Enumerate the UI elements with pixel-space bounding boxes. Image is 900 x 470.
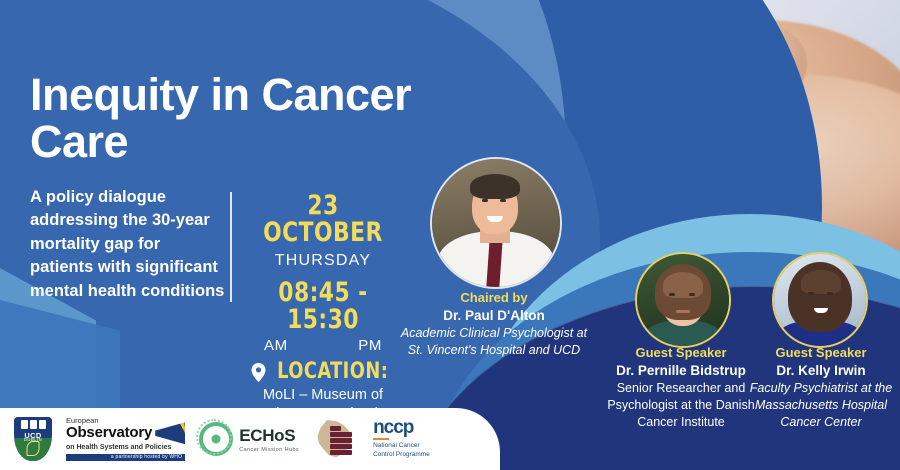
avatar-guest-one <box>635 252 731 348</box>
speaker-caption-guest-one: Guest Speaker Dr. Pernille Bidstrup Seni… <box>600 344 762 431</box>
speaker-description: Faculty Psychiatrist at the Massachusett… <box>740 380 900 431</box>
event-day-of-week: THURSDAY <box>248 252 398 270</box>
event-end-meridiem: PM <box>358 337 382 354</box>
speaker-name: Dr. Paul D'Alton <box>398 307 590 326</box>
echos-mark-icon <box>199 422 233 456</box>
ireland-map-icon <box>313 418 359 460</box>
avatar-chair <box>430 157 562 289</box>
speaker-caption-guest-two: Guest Speaker Dr. Kelly Irwin Faculty Ps… <box>740 344 900 431</box>
observatory-line3: on Health Systems and Policies <box>66 444 185 451</box>
observatory-line4: a partnership hosted by WHO <box>66 454 185 461</box>
event-details: 23 OCTOBER THURSDAY 08:45 - 15:30 AM PM … <box>248 192 398 424</box>
observatory-line2: Observatory <box>66 425 152 441</box>
speaker-role: Chaired by <box>398 289 590 307</box>
speaker-description: Academic Clinical Psychologist at St. Vi… <box>398 325 590 359</box>
speaker-caption-chair: Chaired by Dr. Paul D'Alton Academic Cli… <box>398 289 590 359</box>
vertical-divider <box>230 192 232 302</box>
speaker-name: Dr. Pernille Bidstrup <box>600 362 762 381</box>
speaker-role: Guest Speaker <box>600 344 762 362</box>
logo-european-observatory: European Observatory on Health Systems a… <box>66 417 185 461</box>
event-poster: Inequity in Cancer Care A policy dialogu… <box>0 0 900 470</box>
echos-name: ECHoS <box>239 426 299 446</box>
event-date: 23 OCTOBER <box>256 192 391 246</box>
logo-aicri <box>313 418 359 460</box>
location-label: LOCATION: <box>277 361 388 383</box>
event-time: 08:45 - 15:30 <box>256 279 391 333</box>
poster-subtitle: A policy dialogue addressing the 30-year… <box>30 186 225 303</box>
logo-nccp: nccp National Cancer Control Programme <box>373 418 430 460</box>
speaker-name: Dr. Kelly Irwin <box>740 362 900 381</box>
logo-echos: ECHoS Cancer Mission Hubs <box>199 422 299 456</box>
speaker-description: Senior Researcher and Psychologist at th… <box>600 380 762 431</box>
nccp-name: nccp <box>373 418 430 437</box>
nccp-line2: Control Programme <box>373 451 430 460</box>
location-pin-icon <box>251 363 266 382</box>
echos-tagline: Cancer Mission Hubs <box>239 447 299 453</box>
page-title: Inequity in Cancer Care <box>30 72 460 166</box>
avatar-guest-two <box>772 252 868 348</box>
nccp-line1: National Cancer <box>373 442 430 451</box>
logo-ucd: UCD DUBLIN <box>14 417 52 461</box>
observatory-beam-icon <box>155 422 185 444</box>
speaker-role: Guest Speaker <box>740 344 900 362</box>
event-start-meridiem: AM <box>264 337 288 354</box>
